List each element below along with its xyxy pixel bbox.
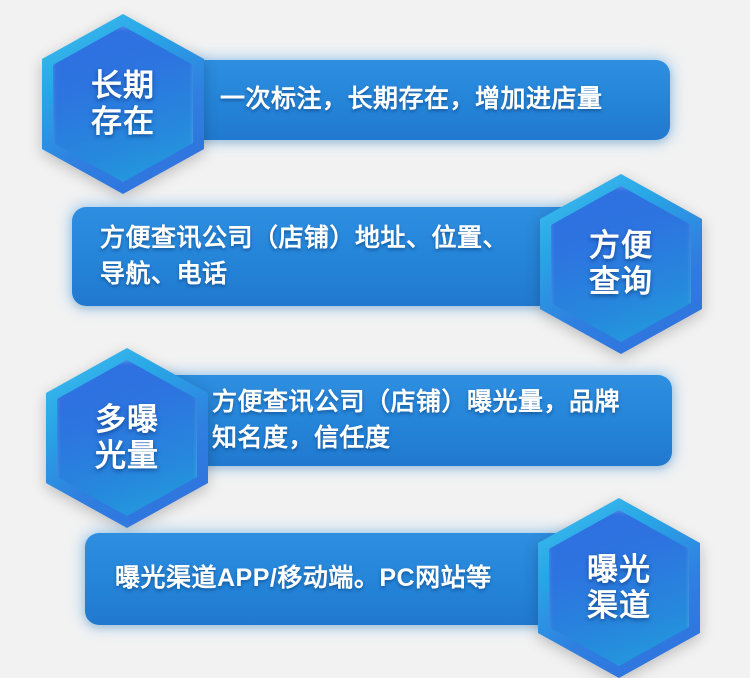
feature-badge-4: 曝光 渠道 xyxy=(538,498,700,678)
infographic-stage: 一次标注，长期存在，增加进店量 长期 存在 方便查讯公司（店铺）地址、位置、 导… xyxy=(0,0,750,673)
feature-bar-3: 方便查讯公司（店铺）曝光量，品牌 知名度，信任度 xyxy=(160,375,672,466)
feature-badge-label-4: 曝光 渠道 xyxy=(538,498,700,678)
feature-badge-label-1: 长期 存在 xyxy=(42,14,204,194)
feature-badge-label-2: 方便 查询 xyxy=(540,174,702,354)
feature-text-4: 曝光渠道APP/移动端。PC网站等 xyxy=(115,561,492,597)
feature-text-3: 方便查讯公司（店铺）曝光量，品牌 知名度，信任度 xyxy=(212,385,620,456)
feature-badge-2: 方便 查询 xyxy=(540,174,702,354)
feature-badge-1: 长期 存在 xyxy=(42,14,204,194)
feature-badge-3: 多曝 光量 xyxy=(46,348,208,528)
feature-badge-label-3: 多曝 光量 xyxy=(46,348,208,528)
feature-text-2: 方便查讯公司（店铺）地址、位置、 导航、电话 xyxy=(100,221,508,292)
feature-bar-1: 一次标注，长期存在，增加进店量 xyxy=(160,60,670,140)
feature-text-1: 一次标注，长期存在，增加进店量 xyxy=(220,82,603,118)
feature-bar-2: 方便查讯公司（店铺）地址、位置、 导航、电话 xyxy=(72,207,600,306)
